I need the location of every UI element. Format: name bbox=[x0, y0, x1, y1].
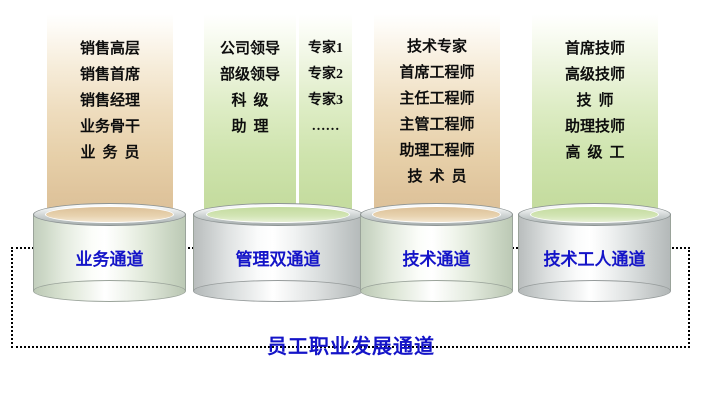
diagram-footer-caption: 员工职业发展通道 bbox=[0, 330, 702, 359]
pillar-management-column-2: 专家1 专家2 专家3 …… bbox=[299, 14, 352, 220]
rank-label: 技术员 bbox=[400, 164, 473, 190]
rank-label: 首席技师 bbox=[565, 36, 625, 62]
rank-label: 主管工程师 bbox=[399, 112, 474, 138]
pillar-technical-worker[interactable]: 首席技师 高级技师 技师 助理技师 高级工 技术工人通道 bbox=[518, 0, 671, 302]
pillar-technical-worker-column-1: 首席技师 高级技师 技师 助理技师 高级工 bbox=[532, 14, 658, 220]
pillar-management-column-1: 公司领导 部级领导 科级 助理 bbox=[204, 14, 296, 220]
base-inner-well bbox=[206, 206, 350, 223]
rank-label: 助理技师 bbox=[565, 114, 625, 140]
rank-label: 销售高层 bbox=[80, 36, 140, 62]
rank-label: 专家1 bbox=[308, 36, 343, 62]
base-bottom-ellipse bbox=[193, 280, 363, 302]
base-inner-well bbox=[45, 206, 174, 223]
pillar-management-label: 管理双通道 bbox=[193, 245, 363, 270]
rank-label: 销售首席 bbox=[80, 62, 140, 88]
rank-label: 高级工 bbox=[558, 140, 631, 166]
rank-label: 销售经理 bbox=[80, 88, 140, 114]
pillar-business-base[interactable]: 业务通道 bbox=[33, 203, 186, 302]
rank-label: …… bbox=[312, 114, 340, 140]
base-inner-well bbox=[530, 206, 659, 223]
pillar-technical[interactable]: 技术专家 首席工程师 主任工程师 主管工程师 助理工程师 技术员 技术通道 bbox=[360, 0, 513, 302]
pillar-technical-worker-shaft: 首席技师 高级技师 技师 助理技师 高级工 bbox=[532, 14, 658, 220]
pillar-management-shaft: 公司领导 部级领导 科级 助理 专家1 专家2 专家3 …… bbox=[204, 14, 352, 220]
base-inner-well bbox=[372, 206, 501, 223]
pillar-business-column-1: 销售高层 销售首席 销售经理 业务骨干 业务员 bbox=[47, 14, 173, 220]
rank-label: 主任工程师 bbox=[399, 86, 474, 112]
pillar-technical-label: 技术通道 bbox=[360, 245, 513, 270]
base-bottom-ellipse bbox=[33, 280, 186, 302]
pillar-business-shaft: 销售高层 销售首席 销售经理 业务骨干 业务员 bbox=[47, 14, 173, 220]
pillar-technical-worker-label: 技术工人通道 bbox=[518, 245, 671, 270]
rank-label: 公司领导 bbox=[220, 36, 280, 62]
pillar-technical-worker-base[interactable]: 技术工人通道 bbox=[518, 203, 671, 302]
rank-label: 业务员 bbox=[73, 140, 146, 166]
rank-label: 技术专家 bbox=[407, 34, 467, 60]
pillar-technical-base[interactable]: 技术通道 bbox=[360, 203, 513, 302]
rank-label: 业务骨干 bbox=[80, 114, 140, 140]
rank-label: 助理 bbox=[224, 114, 275, 140]
rank-label: 科级 bbox=[224, 88, 275, 114]
base-bottom-ellipse bbox=[518, 280, 671, 302]
rank-label: 助理工程师 bbox=[399, 138, 474, 164]
pillar-business-label: 业务通道 bbox=[33, 245, 186, 270]
rank-label: 专家2 bbox=[308, 62, 343, 88]
pillar-management-base[interactable]: 管理双通道 bbox=[193, 203, 363, 302]
rank-label: 技师 bbox=[569, 88, 620, 114]
pillar-technical-column-1: 技术专家 首席工程师 主任工程师 主管工程师 助理工程师 技术员 bbox=[374, 14, 500, 220]
rank-label: 专家3 bbox=[308, 88, 343, 114]
career-path-diagram: 销售高层 销售首席 销售经理 业务骨干 业务员 业务通道 公司领导 部级领导 科… bbox=[0, 0, 702, 411]
rank-label: 首席工程师 bbox=[399, 60, 474, 86]
pillar-business[interactable]: 销售高层 销售首席 销售经理 业务骨干 业务员 业务通道 bbox=[33, 0, 186, 302]
pillar-management[interactable]: 公司领导 部级领导 科级 助理 专家1 专家2 专家3 …… 管理双通道 bbox=[193, 0, 363, 302]
rank-label: 部级领导 bbox=[220, 62, 280, 88]
base-bottom-ellipse bbox=[360, 280, 513, 302]
rank-label: 高级技师 bbox=[565, 62, 625, 88]
pillar-technical-shaft: 技术专家 首席工程师 主任工程师 主管工程师 助理工程师 技术员 bbox=[374, 14, 500, 220]
